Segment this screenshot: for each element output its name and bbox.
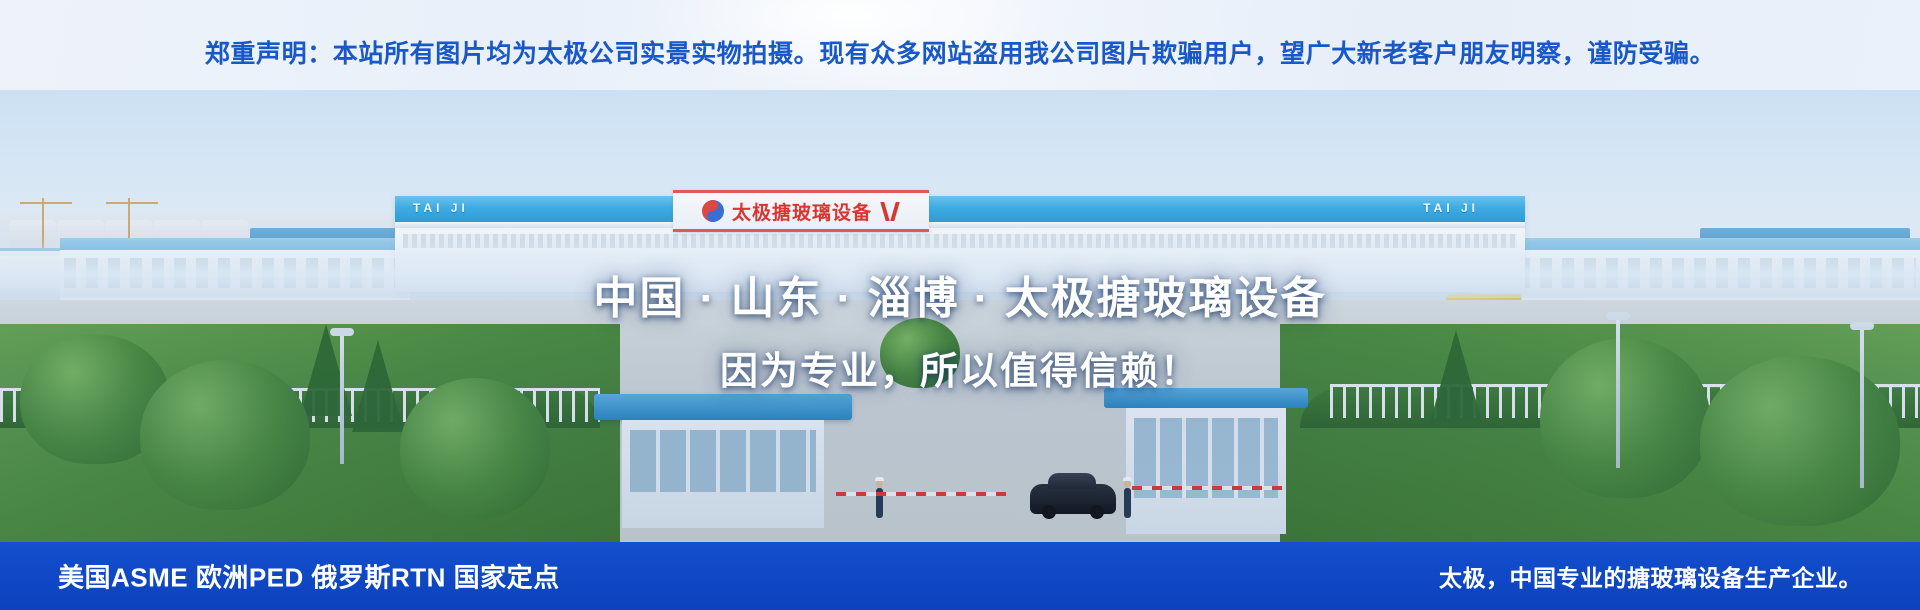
company-logo-mark-icon [880, 201, 900, 221]
tree [140, 360, 310, 510]
building-label-left: TAI JI [413, 201, 469, 215]
conifer-tree [352, 340, 404, 432]
gatehouse-right-roof [1104, 388, 1308, 408]
street-lamp [340, 334, 344, 464]
tree [880, 318, 960, 388]
company-logo-sign: 太极搪玻璃设备 [673, 190, 929, 232]
gate-barrier [836, 492, 1006, 496]
footer-certifications: 美国ASME 欧洲PED 俄罗斯RTN 国家定点 [58, 558, 560, 595]
tree [400, 378, 550, 518]
street-lamp [1860, 328, 1864, 488]
gate-barrier [1132, 486, 1282, 490]
parked-car [1030, 484, 1116, 514]
building-label-right: TAI JI [1423, 201, 1479, 215]
gatehouse-left [612, 394, 834, 528]
main-factory-roof: TAI JI TAI JI [395, 196, 1525, 222]
gatehouse-right [1118, 388, 1294, 534]
atmospheric-haze [0, 238, 1920, 298]
footer-tagline: 太极，中国专业的搪玻璃设备生产企业。 [1439, 559, 1862, 593]
conifer-tree [1430, 330, 1482, 422]
street-lamp [1616, 318, 1620, 468]
car-wheel [1042, 505, 1056, 519]
tree [1540, 338, 1710, 498]
gatehouse-left-glass [630, 430, 816, 492]
copyright-notice-bar: 郑重声明：本站所有图片均为太极公司实景实物拍摄。现有众多网站盗用我公司图片欺骗用… [0, 0, 1920, 90]
tree [1700, 356, 1900, 526]
car-wheel [1090, 505, 1104, 519]
taiji-yinyang-icon [702, 200, 724, 222]
conifer-tree [300, 324, 352, 416]
banner-page: 郑重声明：本站所有图片均为太极公司实景实物拍摄。现有众多网站盗用我公司图片欺骗用… [0, 0, 1920, 610]
company-logo-sign-text: 太极搪玻璃设备 [732, 198, 872, 225]
hero-photo: TAI JI TAI JI 太极搪玻璃设备 [0, 88, 1920, 546]
footer-bar: 美国ASME 欧洲PED 俄罗斯RTN 国家定点 太极，中国专业的搪玻璃设备生产… [0, 542, 1920, 610]
copyright-notice-text: 郑重声明：本站所有图片均为太极公司实景实物拍摄。现有众多网站盗用我公司图片欺骗用… [205, 34, 1715, 70]
gatehouse-left-roof [594, 394, 852, 420]
security-guard [1124, 488, 1131, 518]
